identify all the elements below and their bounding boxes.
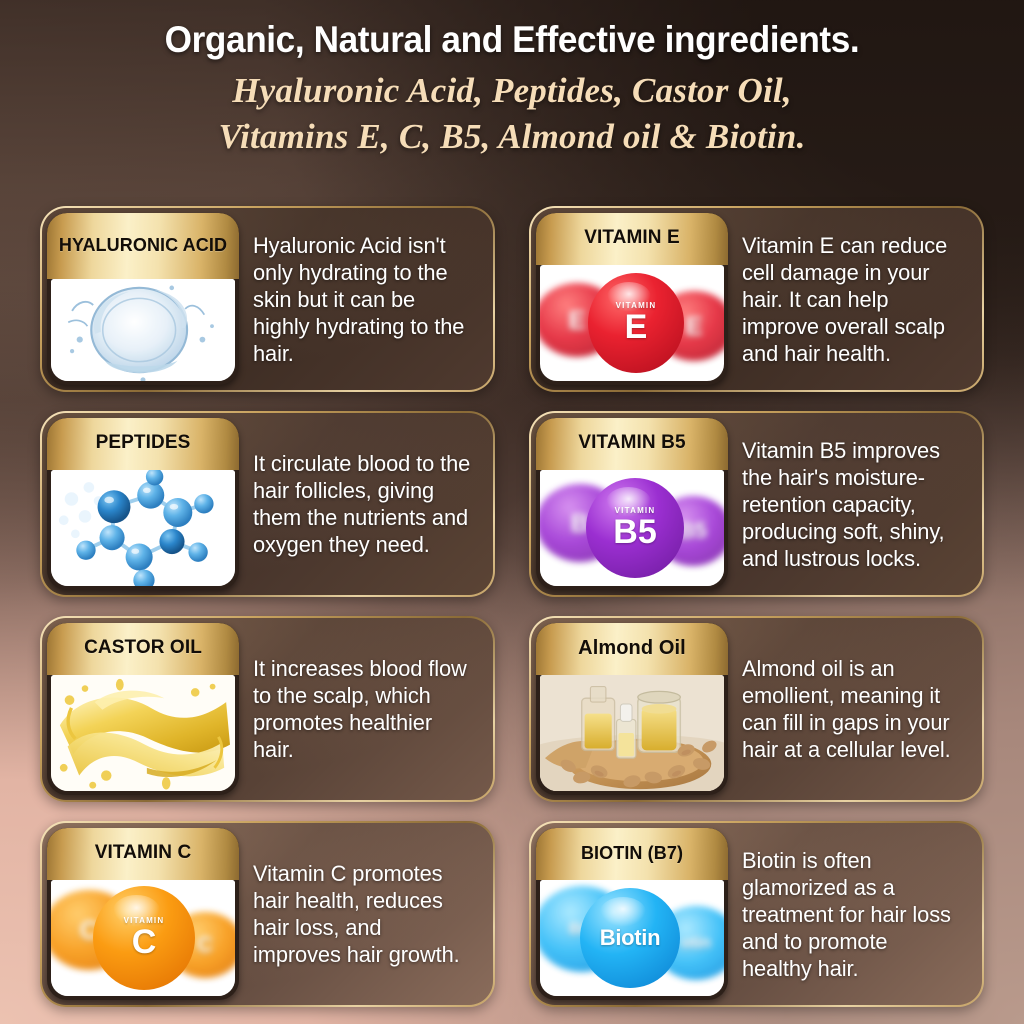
ingredient-description: Vitamin C promotes hair health, reduces …	[253, 860, 472, 968]
card-tile: VITAMIN C C C VITAMIN C	[47, 828, 239, 1000]
capsule-side-right-text: E	[685, 314, 702, 339]
vitamin-b5-capsule-icon: B B5 VITAMIN B5	[540, 470, 724, 586]
ingredient-label: VITAMIN B5	[536, 418, 728, 470]
page-title: Organic, Natural and Effective ingredien…	[26, 18, 999, 62]
header: Organic, Natural and Effective ingredien…	[0, 0, 1024, 161]
ingredient-card-hyaluronic-acid[interactable]: HYALURONIC ACID	[40, 206, 495, 392]
ingredient-description: It increases blood flow to the scalp, wh…	[253, 655, 472, 763]
ingredient-label: VITAMIN E	[536, 213, 728, 265]
card-description-area: It circulate blood to the hair follicles…	[239, 413, 493, 595]
ingredient-label: Almond Oil	[536, 623, 728, 675]
card-tile: Almond Oil	[536, 623, 728, 795]
card-tile: BIOTIN (B7) Bio otin Biotin	[536, 828, 728, 1000]
card-description-area: Vitamin B5 improves the hair's moisture-…	[728, 413, 982, 595]
card-description-area: It increases blood flow to the scalp, wh…	[239, 618, 493, 800]
ingredient-description: Hyaluronic Acid isn't only hydrating to …	[253, 232, 472, 367]
vitamin-e-capsule-icon: E E VITAMIN E	[540, 265, 724, 381]
capsule-main: VITAMIN B5	[586, 478, 684, 578]
ingredient-card-castor-oil[interactable]: CASTOR OIL	[40, 616, 495, 802]
card-description-area: Vitamin E can reduce cell damage in your…	[728, 208, 982, 390]
capsule-main-text: Biotin	[600, 925, 661, 951]
ingredient-card-vitamin-c[interactable]: VITAMIN C C C VITAMIN C	[40, 821, 495, 1007]
capsule-main: VITAMIN C	[93, 886, 195, 990]
ingredient-description: Biotin is often glamorized as a treatmen…	[742, 847, 961, 982]
capsule-main: Biotin	[580, 888, 680, 988]
almond-oil-bottles-icon	[540, 675, 724, 791]
card-tile: HYALURONIC ACID	[47, 213, 239, 385]
ingredient-card-vitamin-b5[interactable]: VITAMIN B5 B B5 VITAMIN B5	[529, 411, 984, 597]
oil-swirl-icon	[51, 675, 235, 791]
infographic-page: Organic, Natural and Effective ingredien…	[0, 0, 1024, 1024]
capsule-main: VITAMIN E	[588, 273, 684, 373]
ingredient-card-grid: HYALURONIC ACID	[40, 206, 984, 1007]
subtitle-line-1: Hyaluronic Acid, Peptides, Castor Oil,	[0, 68, 1024, 115]
ingredient-label: CASTOR OIL	[47, 623, 239, 675]
card-tile: VITAMIN B5 B B5 VITAMIN B5	[536, 418, 728, 590]
vitamin-c-capsule-icon: C C VITAMIN C	[51, 880, 235, 996]
card-description-area: Almond oil is an emollient, meaning it c…	[728, 618, 982, 800]
capsule-side-left-text: E	[568, 308, 585, 333]
capsule-side-right-text: C	[197, 935, 213, 956]
ingredient-card-almond-oil[interactable]: Almond Oil	[529, 616, 984, 802]
molecule-icon	[51, 470, 235, 586]
page-subtitle: Hyaluronic Acid, Peptides, Castor Oil, V…	[0, 68, 1024, 161]
ingredient-card-biotin[interactable]: BIOTIN (B7) Bio otin Biotin	[529, 821, 984, 1007]
capsule-side-right-text: otin	[681, 933, 711, 953]
card-description-area: Hyaluronic Acid isn't only hydrating to …	[239, 208, 493, 390]
card-description-area: Biotin is often glamorized as a treatmen…	[728, 823, 982, 1005]
water-splash-icon	[51, 279, 235, 381]
card-tile: PEPTIDES	[47, 418, 239, 590]
ingredient-label: VITAMIN C	[47, 828, 239, 880]
card-tile: CASTOR OIL	[47, 623, 239, 795]
capsule-main-text: B5	[613, 516, 656, 548]
ingredient-label: PEPTIDES	[47, 418, 239, 470]
ingredient-card-vitamin-e[interactable]: VITAMIN E E E VITAMIN E	[529, 206, 984, 392]
subtitle-line-2: Vitamins E, C, B5, Almond oil & Biotin.	[0, 114, 1024, 161]
capsule-main-text: C	[132, 926, 157, 958]
card-tile: VITAMIN E E E VITAMIN E	[536, 213, 728, 385]
ingredient-label: HYALURONIC ACID	[47, 213, 239, 279]
card-description-area: Vitamin C promotes hair health, reduces …	[239, 823, 493, 1005]
ingredient-description: Almond oil is an emollient, meaning it c…	[742, 655, 961, 763]
ingredient-description: Vitamin E can reduce cell damage in your…	[742, 232, 961, 367]
ingredient-description: Vitamin B5 improves the hair's moisture-…	[742, 437, 961, 572]
biotin-capsule-icon: Bio otin Biotin	[540, 880, 724, 996]
ingredient-description: It circulate blood to the hair follicles…	[253, 450, 472, 558]
ingredient-label: BIOTIN (B7)	[536, 828, 728, 880]
ingredient-card-peptides[interactable]: PEPTIDES	[40, 411, 495, 597]
capsule-main-text: E	[625, 311, 648, 343]
